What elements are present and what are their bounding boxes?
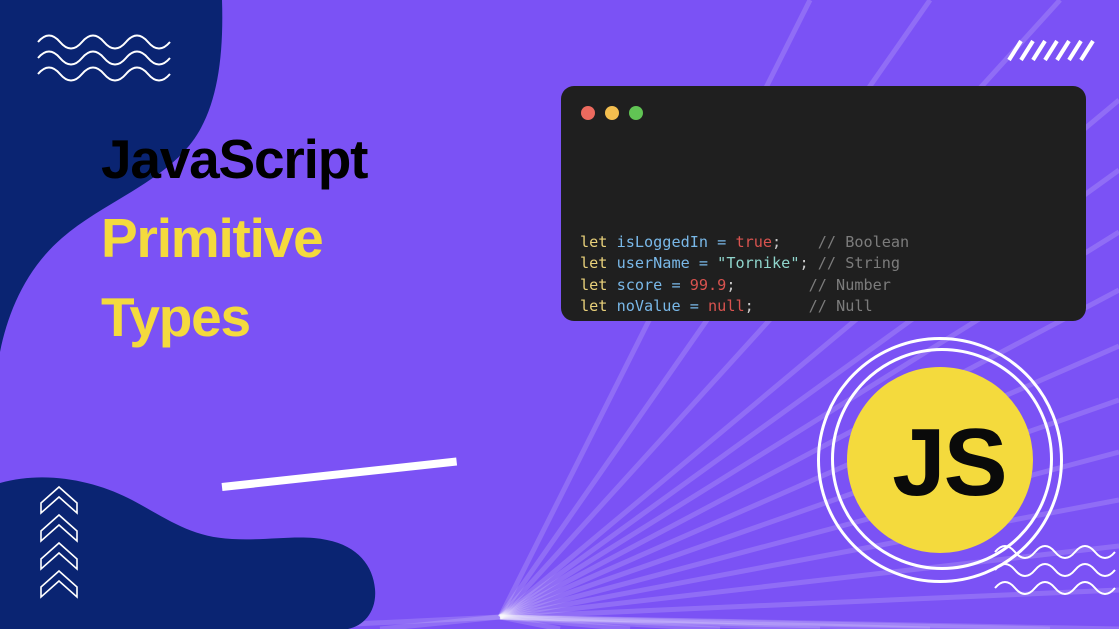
code-value: null: [708, 297, 745, 315]
code-value: true: [735, 233, 772, 251]
code-value: 99.9: [690, 276, 727, 294]
close-icon[interactable]: [581, 106, 595, 120]
title-line-javascript: JavaScript: [101, 120, 531, 199]
code-comment: // String: [818, 254, 900, 272]
code-punctuation: ;: [799, 254, 808, 272]
code-line: let isLoggedIn = true; // Boolean: [580, 232, 1037, 253]
code-spacer: [781, 233, 818, 251]
code-spacer: [754, 297, 809, 315]
code-comment: // BigInt: [955, 319, 1037, 321]
code-operator: =: [717, 319, 744, 321]
code-comment: // Null: [809, 297, 873, 315]
slide-canvas: JavaScript Primitive Types let isLoggedI…: [0, 0, 1119, 629]
code-variable: userName: [617, 254, 690, 272]
code-operator: =: [662, 276, 689, 294]
code-variable: score: [617, 276, 663, 294]
code-keyword: let: [580, 233, 617, 251]
code-variable: bigIntValue: [617, 319, 718, 321]
code-value: "Tornike": [717, 254, 799, 272]
code-line: let userName = "Tornike"; // String: [580, 253, 1037, 274]
logo-text: JS: [892, 415, 1005, 511]
code-spacer: [735, 276, 808, 294]
code-line: let bigIntValue = 12345678901234567890n;…: [580, 318, 1037, 321]
code-punctuation: ;: [772, 233, 781, 251]
code-window-titlebar: [581, 106, 643, 120]
code-keyword: let: [580, 319, 617, 321]
page-title: JavaScript Primitive Types: [101, 120, 531, 357]
code-keyword: let: [580, 254, 617, 272]
code-value: 12345678901234567890n: [745, 319, 937, 321]
code-comment: // Number: [809, 276, 891, 294]
code-spacer: [946, 319, 955, 321]
code-variable: noValue: [617, 297, 681, 315]
code-operator: =: [681, 297, 708, 315]
minimize-icon[interactable]: [605, 106, 619, 120]
maximize-icon[interactable]: [629, 106, 643, 120]
white-diagonal-bar-decoration: [222, 458, 457, 491]
code-spacer: [809, 254, 818, 272]
code-keyword: let: [580, 297, 617, 315]
logo-disc: JS: [847, 367, 1033, 553]
title-line-types: Types: [101, 278, 531, 357]
code-window: let isLoggedIn = true; // Booleanlet use…: [561, 86, 1086, 321]
code-keyword: let: [580, 276, 617, 294]
code-line: let noValue = null; // Null: [580, 296, 1037, 317]
code-operator: =: [708, 233, 735, 251]
code-variable: isLoggedIn: [617, 233, 708, 251]
code-comment: // Boolean: [818, 233, 909, 251]
code-punctuation: ;: [745, 297, 754, 315]
javascript-logo-badge: JS: [817, 337, 1069, 589]
code-line: let score = 99.9; // Number: [580, 275, 1037, 296]
code-block: let isLoggedIn = true; // Booleanlet use…: [580, 232, 1037, 321]
title-line-primitive: Primitive: [101, 199, 531, 278]
code-punctuation: ;: [937, 319, 946, 321]
code-operator: =: [690, 254, 717, 272]
